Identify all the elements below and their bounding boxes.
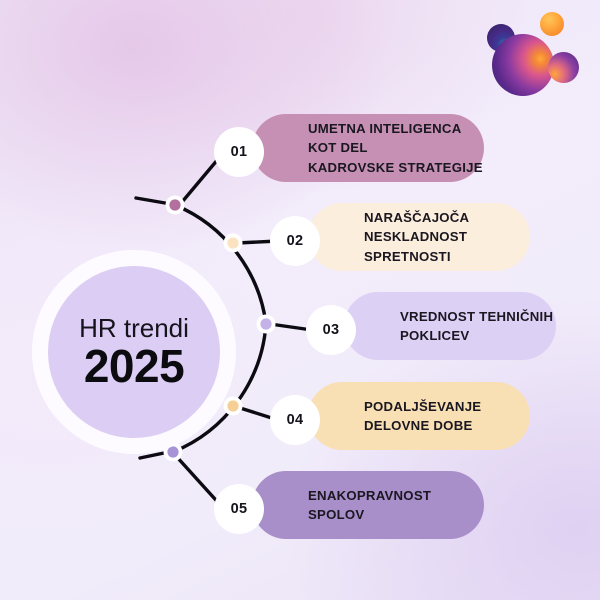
arc-node-ring-04	[224, 397, 243, 416]
center-circle: HR trendi 2025	[48, 266, 220, 438]
gradient-sphere-cluster-decoration	[487, 8, 583, 100]
page-title-line2: 2025	[84, 343, 184, 389]
arc-node-dot-04[interactable]	[227, 400, 238, 411]
trend-label-04: PODALJŠEVANJEDELOVNE DOBE	[364, 397, 481, 435]
arc-node-dot-05[interactable]	[167, 446, 178, 457]
infographic-canvas: HR trendi 2025 UMETNA INTELIGENCA KOT DE…	[0, 0, 600, 600]
trend-number-text: 03	[323, 322, 340, 338]
arc-node-ring-02	[224, 234, 243, 253]
trend-number-circle-04[interactable]: 04	[270, 395, 320, 445]
trend-label-line1: ENAKOPRAVNOST SPOLOV	[308, 486, 484, 524]
arc-node-ring-03	[257, 315, 276, 334]
trend-label-05: ENAKOPRAVNOST SPOLOV	[308, 486, 484, 524]
trend-label-line2: DELOVNE DOBE	[364, 416, 481, 435]
trend-label-03: VREDNOST TEHNIČNIHPOKLICEV	[400, 307, 553, 345]
trend-number-text: 04	[287, 412, 304, 428]
trend-number-circle-03[interactable]: 03	[306, 305, 356, 355]
trend-number-circle-02[interactable]: 02	[270, 216, 320, 266]
arc-node-dot-03[interactable]	[260, 318, 271, 329]
arc-stub-top	[136, 198, 165, 203]
trend-pill-03[interactable]: VREDNOST TEHNIČNIHPOKLICEV	[344, 292, 556, 360]
sphere-main-icon	[492, 34, 554, 96]
trend-label-line2: NESKLADNOST SPRETNOSTI	[364, 227, 530, 265]
arc-stub-bottom	[140, 453, 164, 458]
arc-node-ring-01	[166, 196, 185, 215]
page-title-line1: HR trendi	[79, 315, 189, 342]
trend-label-line2: POKLICEV	[400, 326, 553, 345]
sphere-right-icon	[548, 52, 579, 83]
trend-pill-02[interactable]: NARAŠČAJOČANESKLADNOST SPRETNOSTI	[308, 203, 530, 271]
trend-label-02: NARAŠČAJOČANESKLADNOST SPRETNOSTI	[364, 208, 530, 265]
trend-number-text: 01	[231, 144, 248, 160]
arc-node-dot-01[interactable]	[169, 199, 180, 210]
trend-number-text: 05	[231, 501, 248, 517]
trend-number-circle-05[interactable]: 05	[214, 484, 264, 534]
trend-number-text: 02	[287, 233, 304, 249]
trend-label-line1: NARAŠČAJOČA	[364, 208, 530, 227]
trend-pill-01[interactable]: UMETNA INTELIGENCA KOT DELKADROVSKE STRA…	[252, 114, 484, 182]
arc-node-dot-02[interactable]	[227, 237, 238, 248]
trend-label-line1: UMETNA INTELIGENCA KOT DEL	[308, 119, 484, 157]
sphere-orange-icon	[540, 12, 564, 36]
trend-label-01: UMETNA INTELIGENCA KOT DELKADROVSKE STRA…	[308, 119, 484, 176]
trend-pill-04[interactable]: PODALJŠEVANJEDELOVNE DOBE	[308, 382, 530, 450]
trend-number-circle-01[interactable]: 01	[214, 127, 264, 177]
trend-label-line1: PODALJŠEVANJE	[364, 397, 481, 416]
trend-pill-05[interactable]: ENAKOPRAVNOST SPOLOV	[252, 471, 484, 539]
trend-label-line1: VREDNOST TEHNIČNIH	[400, 307, 553, 326]
trend-label-line2: KADROVSKE STRATEGIJE	[308, 158, 484, 177]
